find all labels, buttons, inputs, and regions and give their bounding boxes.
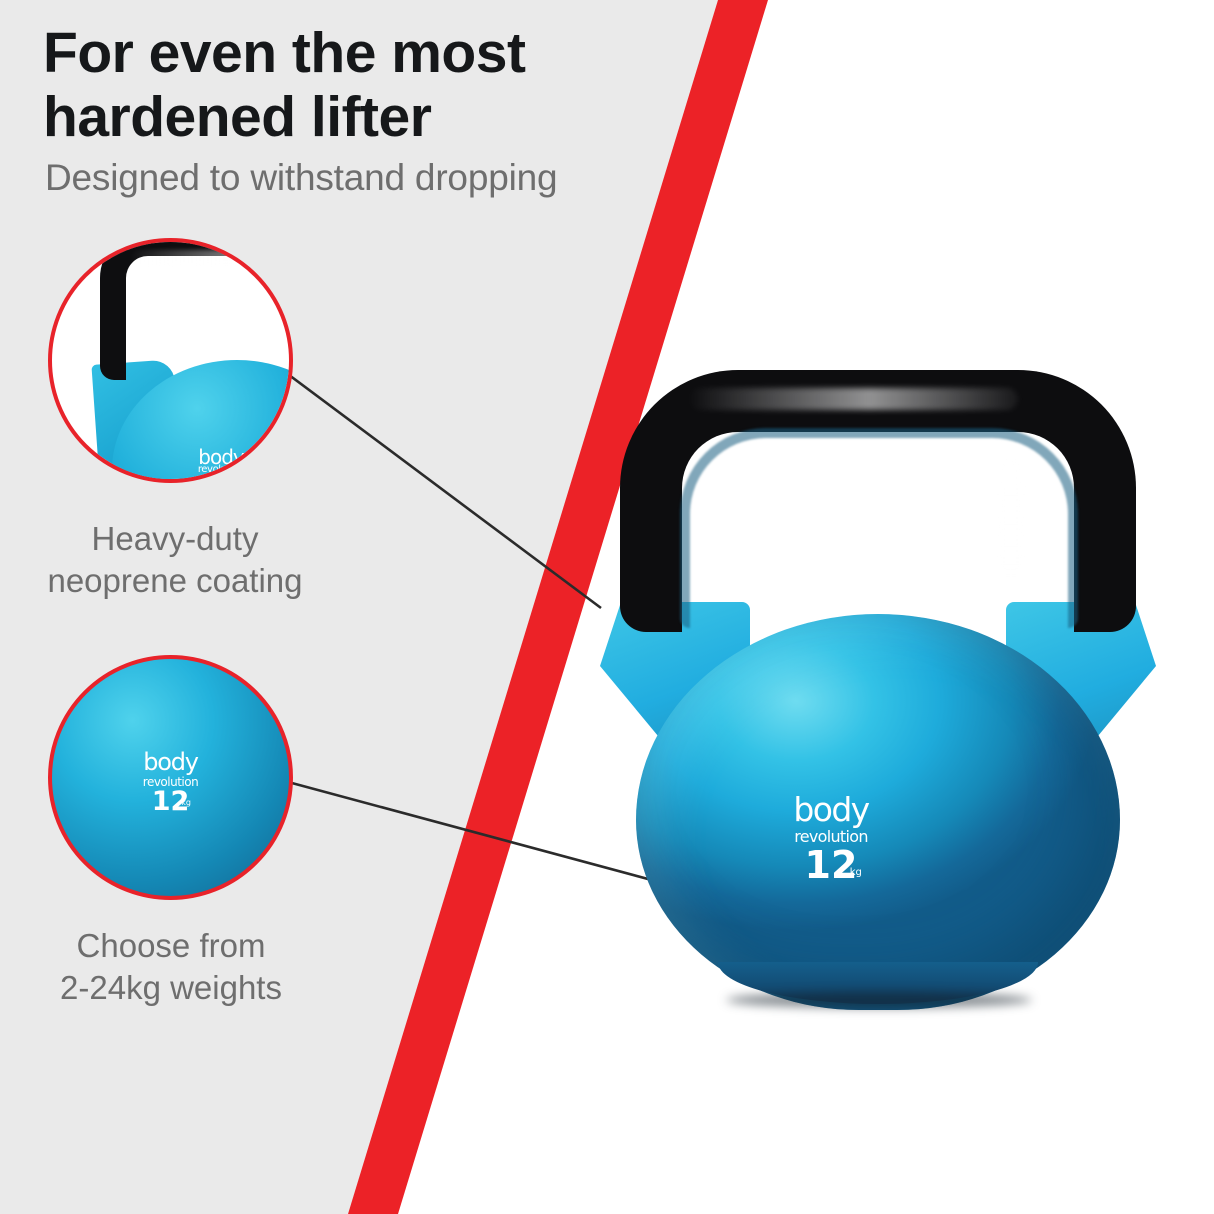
magnified-handle-highlight (130, 250, 293, 266)
handle-side-highlight (998, 456, 1024, 576)
caption-weights: Choose from 2-24kg weights (6, 925, 336, 1009)
callout-circle-neoprene: body revolution 12 (48, 238, 293, 483)
caption-weights-line-2: 2-24kg weights (6, 967, 336, 1009)
caption-weights-line-1: Choose from (77, 927, 266, 964)
kettlebell-contact-shadow (726, 992, 1032, 1008)
logo-brand-line-1: body (125, 750, 215, 774)
headline: For even the most hardened lifter (43, 22, 683, 150)
logo-weight-value: 12 (125, 788, 215, 815)
logo-weight-unit: kg (181, 799, 191, 807)
caption-neoprene-line-2: neoprene coating (10, 560, 340, 602)
kettlebell-product-image: body revolution 12 kg (568, 370, 1188, 1010)
headline-line-1: For even the most (43, 21, 525, 85)
product-brand-logo: body revolution 12 kg (764, 766, 898, 900)
callout-circle-weights: body revolution 12 kg (48, 655, 293, 900)
magnified-brand-logo: body revolution 12 (184, 428, 258, 483)
logo-weight-value: 12 (764, 846, 898, 884)
infographic-canvas: For even the most hardened lifter Design… (0, 0, 1214, 1214)
headline-line-2: hardened lifter (43, 86, 683, 150)
caption-neoprene: Heavy-duty neoprene coating (10, 518, 340, 602)
subheadline: Designed to withstand dropping (45, 157, 557, 199)
logo-brand-line-1: body (764, 793, 898, 826)
handle-top-highlight (688, 388, 1018, 410)
magnified-brand-logo-2: body revolution 12 kg (125, 732, 215, 822)
logo-weight-unit: kg (850, 868, 862, 878)
caption-neoprene-line-1: Heavy-duty (92, 520, 259, 557)
